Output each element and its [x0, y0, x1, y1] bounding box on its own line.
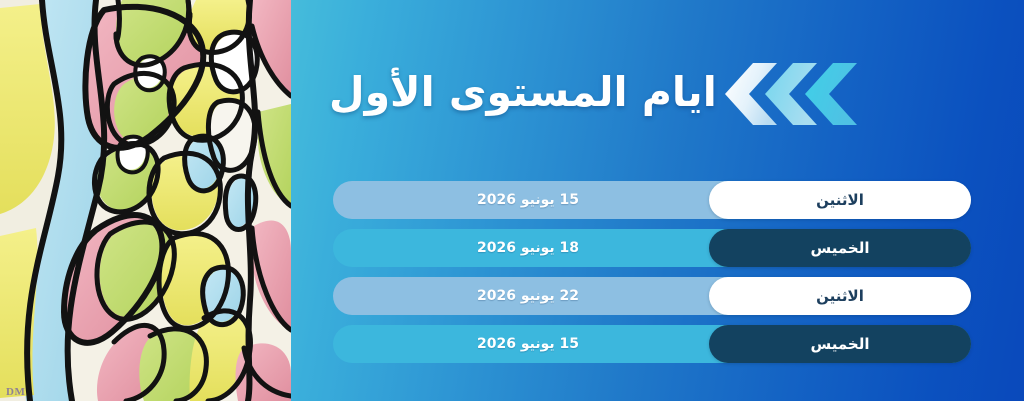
table-row[interactable]: الاثنين 22 يونيو 2026	[333, 277, 971, 315]
schedule-panel: ايام المستوى الأول	[291, 0, 1024, 401]
date-label: 15 يونيو 2026	[477, 336, 579, 352]
chevron-group	[739, 61, 859, 127]
table-row[interactable]: الخميس 18 يونيو 2026	[333, 229, 971, 267]
day-pill[interactable]: الاثنين	[709, 181, 971, 219]
day-label: الاثنين	[816, 191, 864, 209]
date-label: 18 يونيو 2026	[477, 240, 579, 256]
day-label: الخميس	[811, 239, 870, 257]
schedule-rows: الاثنين 15 يونيو 2026 الخميس 18 يونيو 20…	[333, 181, 971, 363]
day-label: الاثنين	[816, 287, 864, 305]
date-cell: 22 يونيو 2026	[333, 288, 709, 304]
date-label: 15 يونيو 2026	[477, 192, 579, 208]
chevron-left-icon	[723, 61, 779, 127]
day-pill[interactable]: الخميس	[709, 325, 971, 363]
day-pill[interactable]: الاثنين	[709, 277, 971, 315]
date-label: 22 يونيو 2026	[477, 288, 579, 304]
artwork-image: DM	[0, 0, 291, 401]
date-cell: 18 يونيو 2026	[333, 240, 709, 256]
header: ايام المستوى الأول	[291, 46, 1024, 138]
date-cell: 15 يونيو 2026	[333, 336, 709, 352]
day-label: الخميس	[811, 335, 870, 353]
artwork-signature: DM	[6, 386, 25, 398]
day-pill[interactable]: الخميس	[709, 229, 971, 267]
table-row[interactable]: الخميس 15 يونيو 2026	[333, 325, 971, 363]
slide-canvas: DM ايام المستوى الأول	[0, 0, 1024, 401]
page-title: ايام المستوى الأول	[329, 72, 717, 113]
date-cell: 15 يونيو 2026	[333, 192, 709, 208]
table-row[interactable]: الاثنين 15 يونيو 2026	[333, 181, 971, 219]
